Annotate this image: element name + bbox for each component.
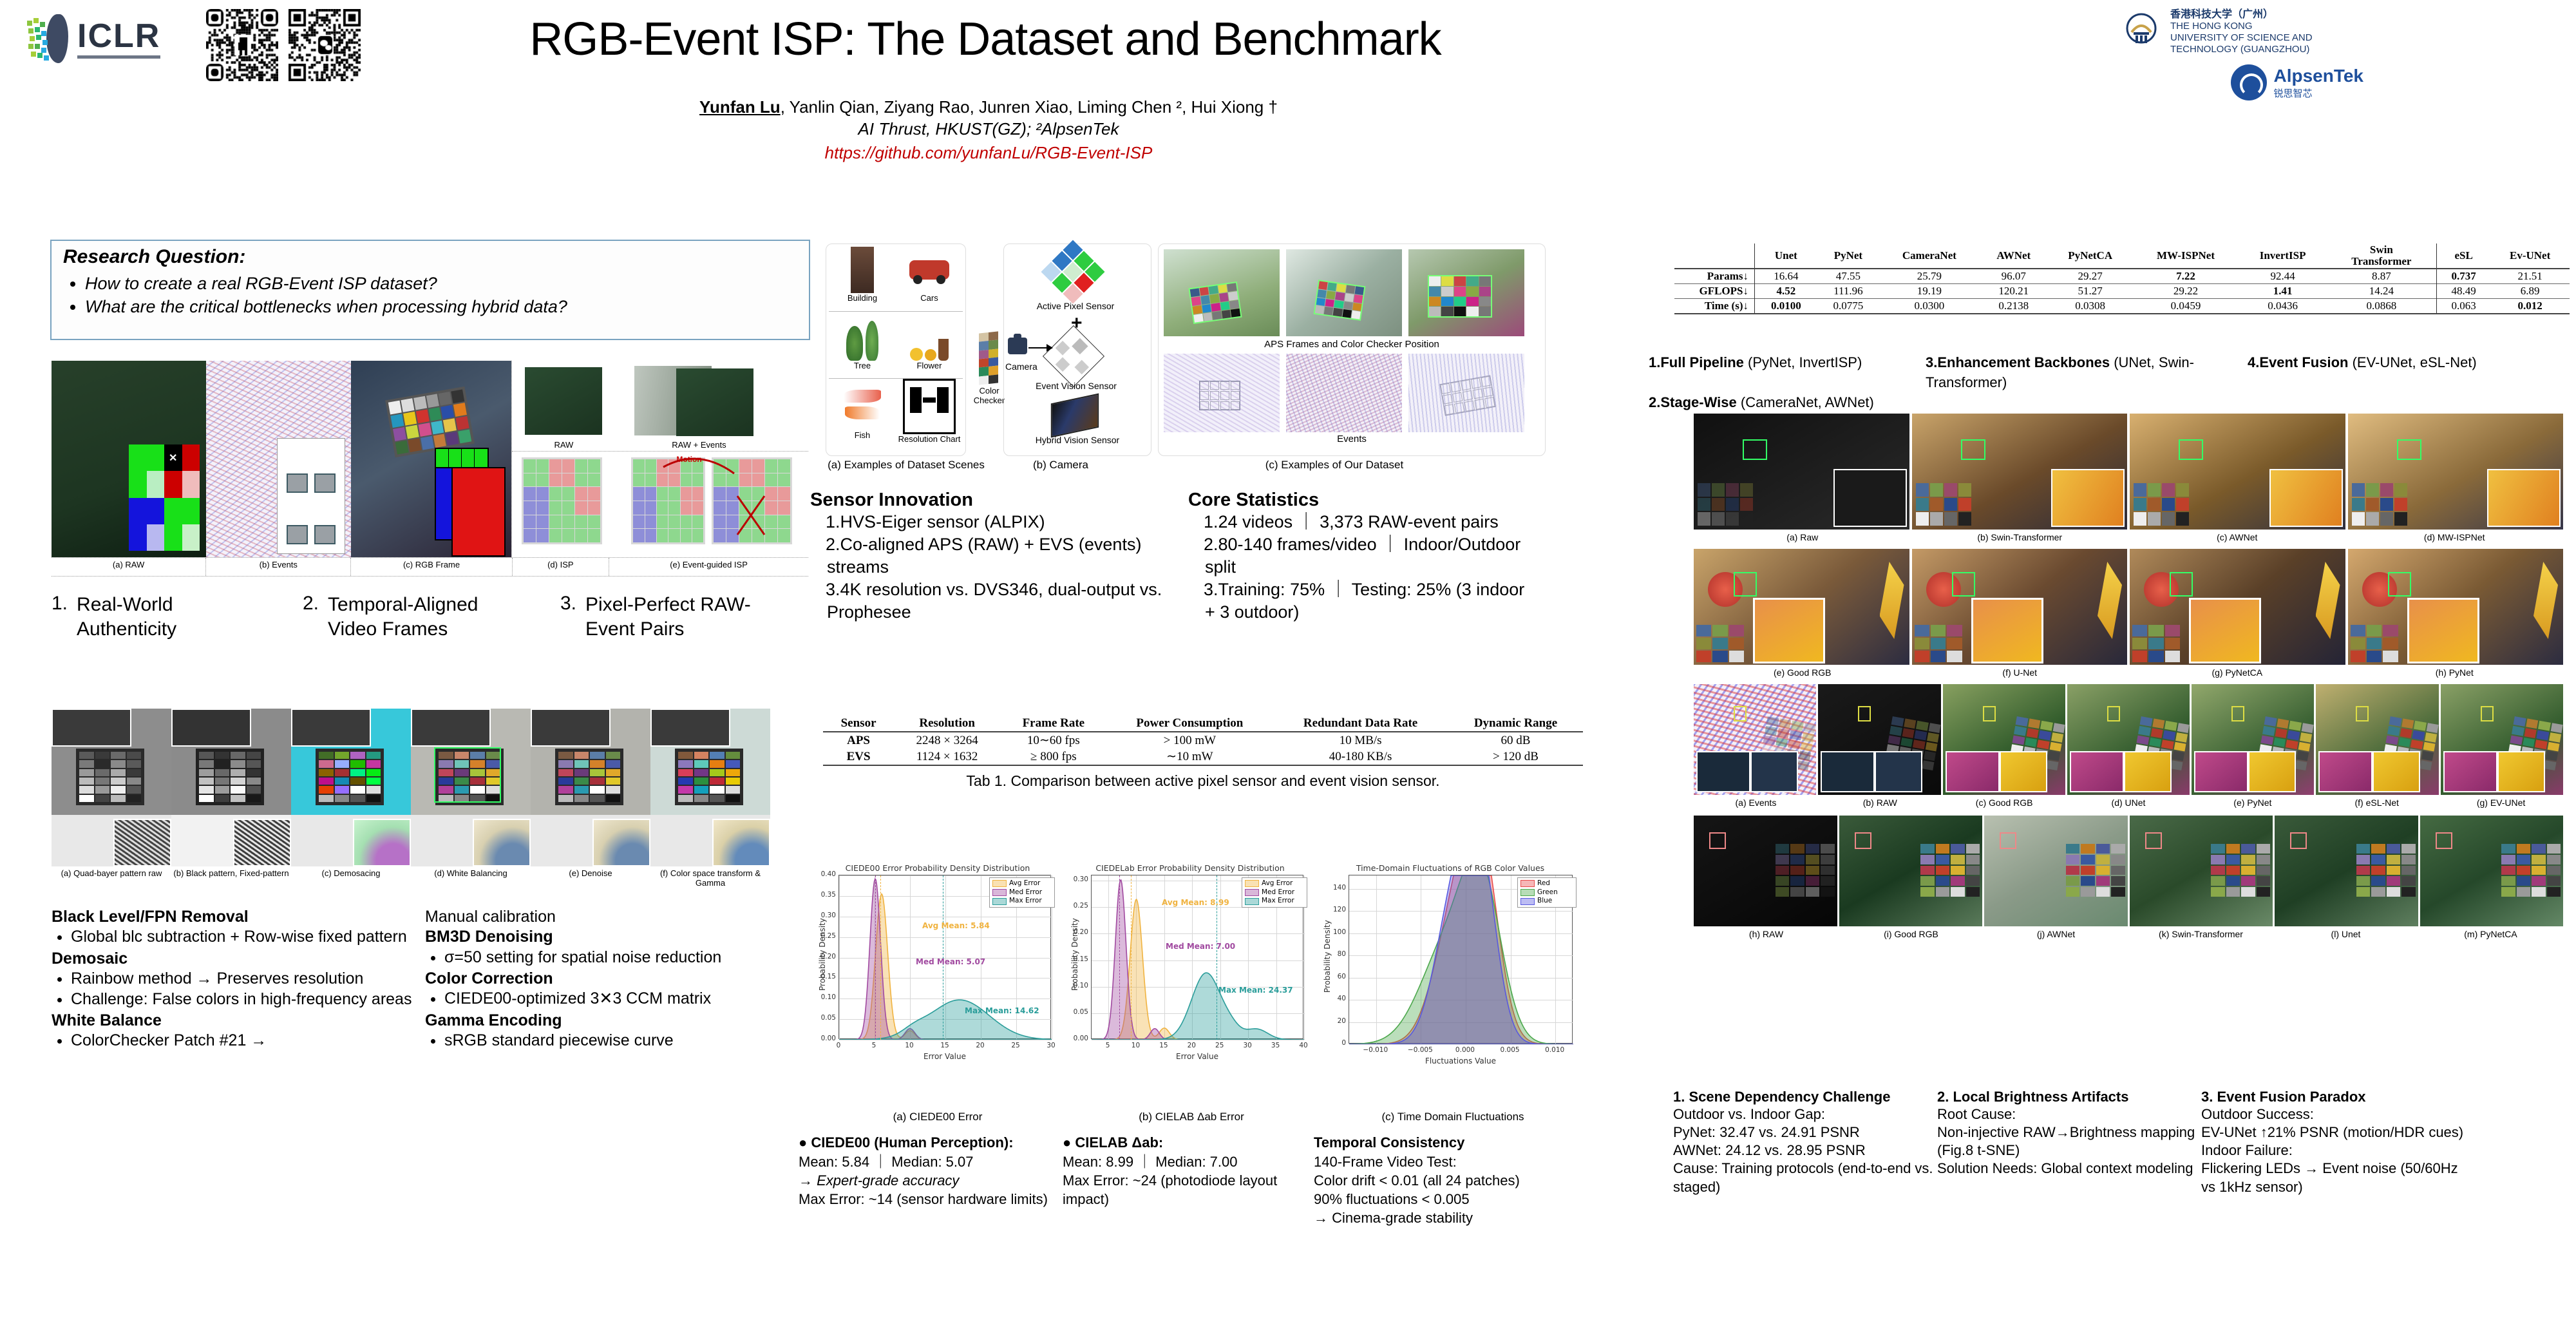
hkust-logo-icon [2119,9,2164,54]
result-tile [1694,816,1837,926]
sensor-comparison-table: Sensor Resolution Frame Rate Power Consu… [823,715,1583,765]
table-row: EVS 1124 × 1632 ≥ 800 fps ∼10 mW 40-180 … [823,749,1583,765]
evs-sensor-icon [1043,325,1104,387]
legend-label: Avg Error [1262,879,1293,888]
y-tick: 20 [1323,1017,1346,1025]
result-tile [1839,816,1983,926]
highlight-3-text: Pixel-Perfect RAW-Event Pairs [585,593,779,641]
iclr-mark-icon [26,14,68,63]
dataset-scenes-panel: Building Cars Tree [826,244,966,456]
benchmark-cell: 0.0868 [2327,298,2437,314]
hybrid-label: Hybrid Vision Sensor [1030,435,1125,445]
alpsentek-name: AlpsenTek [2273,66,2363,86]
camera-icon [1008,338,1030,359]
y-tick: 0.10 [813,993,836,1001]
chart-legend: Avg ErrorMed ErrorMax Error [1242,877,1307,908]
chart-annotation: Med Mean: 5.07 [916,957,985,966]
teaser-isp-comparison: RAW RAW + Events Motion [511,361,808,557]
isp-pipeline-captions: (a) Quad-bayer pattern raw (b) Black pat… [52,866,773,888]
scene-cars: Cars [896,247,963,311]
scene-color-checker-icon [979,331,998,385]
chart-cielab-title: CIEDELab Error Probability Density Distr… [1063,863,1318,873]
results-grid-row3 [1694,684,2563,795]
result-tile [1818,684,1940,795]
isp-caption-d: (d) White Balancing [411,866,531,888]
benchmark-col-pynetca: PyNetCA [2048,244,2133,269]
core-statistics-item-2: 2.80-140 frames/video ｜ Indoor/Outdoor s… [1188,533,1536,578]
benchmark-col-mw-ispnet: MW-ISPNet [2132,244,2239,269]
benchmark-row-label: Time (s)↓ [1674,298,1755,314]
benchmark-cell: 4.52 [1755,283,1817,298]
qr-code-github[interactable] [206,9,278,84]
isp-right-text: Manual calibration BM3D Denoising σ=50 s… [425,907,773,1053]
benchmark-note-4: 4.Event Fusion (EV-UNet, eSL-Net) [2248,353,2524,393]
isp-stage-image [411,709,531,866]
benchmark-cell: 14.24 [2327,283,2437,298]
result-tile [2067,684,2190,795]
isp-stage-image [650,709,770,866]
benchmark-cell: 111.96 [1817,283,1879,298]
isp-rblock-head-2: Color Correction [425,969,773,989]
y-tick: 0 [1323,1039,1346,1047]
teaser-caption-d: (d) ISP [513,558,609,576]
benchmark-cell: 0.063 [2437,298,2491,314]
first-author: Yunfan Lu [699,97,781,117]
benchmark-note-1: 1.Full Pipeline (PyNet, InvertISP) [1649,353,1926,393]
benchmark-cell: 1.41 [2239,283,2327,298]
result-tile [1912,414,2128,530]
highlight-3-number: 3. [560,593,576,641]
y-tick: 40 [1323,995,1346,1002]
events-frame-2 [1286,354,1402,432]
isp-caption-e: (e) Denoise [531,866,650,888]
university-name: 香港科技大学（广州） THE HONG KONG UNIVERSITY OF S… [2170,9,2363,55]
isp-caption-f: (f) Color space transform & Gamma [650,866,770,888]
result-tile [2130,414,2345,530]
metrics-temporal: Temporal Consistency 140-Frame Video Tes… [1314,1134,1591,1227]
results-grid-row2-captions: (e) Good RGB (f) U-Net (g) PyNetCA (h) P… [1694,667,2563,678]
aps-label: Active Pixel Sensor [1034,301,1117,311]
legend-label: Red [1537,879,1550,888]
benchmark-note-2: 2.Stage-Wise (CameraNet, AWNet) [1649,393,1926,413]
x-tick: 15 [928,1042,961,1049]
teaser-caption-a: (a) RAW [52,558,206,576]
benchmark-cell: 48.49 [2437,283,2491,298]
teaser-highlights: 1. Real-World Authenticity 2. Temporal-A… [52,593,811,641]
isp-stage-image [171,709,291,866]
conclusion-1-head: 1. Scene Dependency Challenge [1673,1089,1956,1105]
teaser-caption-b: (b) Events [206,558,351,576]
x-tick: −0.010 [1359,1046,1392,1054]
teaser-raw-image: ✕ [52,361,206,557]
chart-caption-c: (c) Time Domain Fluctuations [1318,1111,1588,1123]
results-grid-row4 [1694,816,2563,926]
metrics-ciede00-head: ● CIEDE00 (Human Perception): [799,1134,1056,1152]
benchmark-col-unet: Unet [1755,244,1817,269]
mean-line [880,875,881,1040]
chart-caption-a: (a) CIEDE00 Error [810,1111,1065,1123]
benchmark-cell: 25.79 [1879,269,1980,284]
benchmark-cell: 0.0300 [1879,298,1980,314]
benchmark-cell: 0.0436 [2239,298,2327,314]
isp-rblock-item-3-1: sRGB standard piecewise curve [444,1031,773,1051]
chart-caption-b: (b) CIELAB Δab Error [1065,1111,1318,1123]
x-axis-label: Error Value [838,1052,1051,1061]
x-tick: 10 [893,1042,926,1049]
chart-annotation: Max Mean: 24.37 [1218,986,1293,995]
iclr-logo: ICLR [26,13,187,64]
benchmark-cell: 21.51 [2490,269,2570,284]
chart-annotation: Avg Mean: 8.99 [1162,898,1229,907]
legend-label: Max Error [1009,897,1042,906]
benchmark-cell: 0.0308 [2048,298,2133,314]
benchmark-cell: 6.89 [2490,283,2570,298]
x-axis-label: Fluctuations Value [1349,1056,1573,1065]
research-question-heading: Research Question: [63,246,797,268]
y-axis-label: Probability Density [1323,920,1332,993]
core-statistics-item-1: 1.24 videos ｜ 3,373 RAW-event pairs [1188,511,1536,533]
benchmark-cell: 8.87 [2327,269,2437,284]
chart-annotation: Max Mean: 14.62 [965,1006,1039,1015]
result-tile [1694,684,1816,795]
core-statistics-heading: Core Statistics [1188,490,1536,511]
isp-block-item-3-1: ColorChecker Patch #21 → [71,1031,451,1051]
x-tick: 0 [822,1042,855,1049]
th-data-rate: Redundant Data Rate [1273,715,1448,732]
result-tile [2130,816,2273,926]
th-sensor: Sensor [823,715,894,732]
highlight-1-text: Real-World Authenticity [77,593,270,641]
highlight-2-number: 2. [303,593,319,641]
y-tick: 0.05 [813,1014,836,1022]
benchmark-cell: 92.44 [2239,269,2327,284]
scene-color-checker-label: Color Checker [972,387,1006,406]
scene-fish: Fish [829,379,896,450]
page-title: RGB-Event ISP: The Dataset and Benchmark [528,13,1443,66]
isp-block-item-2-2: Challenge: False colors in high-frequenc… [71,989,451,1010]
chart-time-domain-title: Time-Domain Fluctuations of RGB Color Va… [1315,863,1586,873]
qr-code-wechat[interactable] [289,9,361,84]
teaser-figure: ✕ [52,361,808,580]
isp-block-item-2-1: Rainbow method → Preserves resolution [71,969,451,989]
conclusion-2: 2. Local Brightness Artifacts Root Cause… [1937,1089,2208,1178]
y-tick: 0.25 [1065,902,1088,910]
result-tile [2348,549,2564,665]
evs-label: Event Vision Sensor [1032,381,1120,391]
benchmark-col-ev-unet: Ev-UNet [2490,244,2570,269]
result-tile [1943,684,2065,795]
result-tile [1694,414,1909,530]
isp-caption-c: (c) Demosacing [291,866,411,888]
chart-annotation: Avg Mean: 5.84 [922,921,990,930]
benchmark-note-3: 3.Enhancement Backbones (UNet, Swin-Tran… [1926,353,2248,393]
x-tick: 0.005 [1493,1046,1527,1054]
result-tile [1984,816,2128,926]
y-tick: 0.30 [1065,875,1088,883]
results-grid-row1-captions: (a) Raw (b) Swin-Transformer (c) AWNet (… [1694,532,2563,542]
table-row: Params↓16.6447.5525.7996.0729.277.2292.4… [1674,269,2570,284]
isp-pipeline-figure [52,709,773,866]
benchmark-cell: 51.27 [2048,283,2133,298]
results-grid-row1 [1694,414,2563,530]
chart-time-domain: Time-Domain Fluctuations of RGB Color Va… [1315,863,1586,1076]
author-list: Yunfan Lu, Yanlin Qian, Ziyang Rao, Junr… [489,97,1488,118]
legend-label: Med Error [1009,888,1042,897]
benchmark-cell: 16.64 [1755,269,1817,284]
isp-block-head-3: White Balance [52,1011,451,1031]
dataset-caption-a: (a) Examples of Dataset Scenes [826,459,987,472]
conclusion-1: 1. Scene Dependency Challenge Outdoor vs… [1673,1089,1956,1196]
isp-rblock-head-0: Manual calibration [425,907,773,927]
x-axis-label: Error Value [1091,1052,1303,1061]
dataset-examples-panel: APS Frames and Color Checker Position Ev… [1158,244,1546,456]
benchmark-table: UnetPyNetCameraNetAWNetPyNetCAMW-ISPNetI… [1674,244,2570,314]
benchmark-cell: 47.55 [1817,269,1879,284]
isp-rblock-head-3: Gamma Encoding [425,1011,773,1031]
benchmark-cell: 7.22 [2132,269,2239,284]
alpsentek-name-cn: 锐思智芯 [2273,86,2363,100]
table-row: APS 2248 × 3264 10∼60 fps > 100 mW 10 MB… [823,732,1583,749]
table1-caption: Tab 1. Comparison between active pixel s… [817,766,1589,790]
chart-legend: RedGreenBlue [1517,877,1577,908]
x-tick: −0.005 [1403,1046,1437,1054]
conclusion-3: 3. Event Fusion Paradox Outdoor Success:… [2201,1089,2472,1196]
benchmark-cell: 29.27 [2048,269,2133,284]
benchmark-cell: 96.07 [1980,269,2048,284]
legend-label: Green [1537,888,1558,897]
isp-rblock-item-1-1: σ=50 setting for spatial noise reduction [444,948,773,968]
chart-ciede00: CIEDE00 Error Probability Density Distri… [810,863,1065,1069]
th-frame-rate: Frame Rate [1000,715,1106,732]
results-grid-row3-captions: (a) Events (b) RAW (c) Good RGB (d) UNet… [1694,797,2563,808]
alpsentek-mark-icon [2231,64,2267,100]
benchmark-col-esl: eSL [2437,244,2491,269]
benchmark-cell: 29.22 [2132,283,2239,298]
result-tile [2420,816,2564,926]
benchmark-col-awnet: AWNet [1980,244,2048,269]
chart-annotation: Med Mean: 7.00 [1166,942,1235,951]
sensor-innovation-item-3: 3.4K resolution vs. DVS346, dual-output … [810,578,1190,624]
scene-flower: Flower [896,312,963,378]
camera-label: Camera [1005,361,1034,372]
result-tile [2275,816,2418,926]
core-statistics-item-3: 3.Training: 75% ｜ Testing: 25% (3 indoor… [1188,578,1536,624]
events-frame-3 [1408,354,1524,432]
benchmark-cell: 0.0459 [2132,298,2239,314]
benchmark-cell: 120.21 [1980,283,2048,298]
result-tile [2441,684,2563,795]
dataset-caption-b: (b) Camera [987,459,1135,472]
legend-label: Max Error [1262,897,1294,906]
affiliation: AI Thrust, HKUST(GZ); ²AlpsenTek [489,119,1488,139]
metrics-ciede00: ● CIEDE00 (Human Perception): Mean: 5.84… [799,1134,1056,1208]
iclr-wordmark: ICLR [77,19,160,59]
chart-captions: (a) CIEDE00 Error (b) CIELAB Δab Error (… [810,1111,1589,1123]
teaser-events-image [206,361,351,557]
chart-cielab: CIEDELab Error Probability Density Distr… [1063,863,1318,1069]
teaser-inner-label-raw: RAW [525,438,602,450]
y-tick: 0.40 [813,870,836,878]
aps-frames-label: APS Frames and Color Checker Position [1159,336,1545,350]
results-grid-row4-captions: (h) RAW (i) Good RGB (j) AWNet (k) Swin-… [1694,929,2563,939]
teaser-caption-e: (e) Event-guided ISP [609,558,808,576]
chart-ciede00-title: CIEDE00 Error Probability Density Distri… [810,863,1065,873]
project-url[interactable]: https://github.com/yunfanLu/RGB-Event-IS… [489,143,1488,163]
teaser-caption-c: (c) RGB Frame [351,558,512,576]
highlight-1-number: 1. [52,593,68,641]
y-axis-label: Probability Density [1070,918,1079,991]
poster-header: ICLR RGB-Event ISP: The Dataset and Benc… [0,0,2576,213]
isp-block-head-2: Demosaic [52,949,451,969]
metrics-temporal-head: Temporal Consistency [1314,1134,1591,1152]
mean-line [1131,875,1132,1040]
mean-line [875,875,876,1040]
scene-tree: Tree [829,312,896,378]
isp-left-text: Black Level/FPN Removal Global blc subtr… [52,907,451,1053]
aps-sensor-icon [1041,240,1105,304]
result-tile [2130,549,2345,665]
events-label: Events [1159,432,1545,444]
isp-caption-a: (a) Quad-bayer pattern raw [52,866,171,888]
dataset-caption-c: (c) Examples of Our Dataset [1135,459,1534,472]
conclusion-2-head: 2. Local Brightness Artifacts [1937,1089,2208,1105]
sensor-innovation-item-2: 2.Co-aligned APS (RAW) + EVS (events) st… [810,533,1190,578]
sensor-innovation-heading: Sensor Innovation [810,490,1190,511]
y-tick: 140 [1323,884,1346,892]
hybrid-sensor-icon [1051,394,1099,438]
isp-block-item-1-1: Global blc subtraction + Row-wise fixed … [71,927,451,948]
benchmark-col-invertisp: InvertISP [2239,244,2327,269]
benchmark-cell: 19.19 [1879,283,1980,298]
aps-frame-1 [1164,249,1280,336]
metrics-cielab: ● CIELAB Δab: Mean: 8.99 ｜ Median: 7.00 … [1063,1134,1307,1208]
teaser-motion-label: Motion [676,455,701,464]
x-tick: 25 [999,1042,1032,1049]
university-name-en-2: UNIVERSITY OF SCIENCE AND [2170,32,2363,44]
dataset-overview-figure: Building Cars Tree [826,244,1586,456]
result-tile [1694,549,1909,665]
other-authors: , Yanlin Qian, Ziyang Rao, Junren Xiao, … [781,97,1278,117]
benchmark-col-pynet: PyNet [1817,244,1879,269]
benchmark-col-label [1674,244,1755,269]
sensor-comparison-table-wrap: Sensor Resolution Frame Rate Power Consu… [817,715,1589,790]
th-resolution: Resolution [894,715,1000,732]
metrics-cielab-head: ● CIELAB Δab: [1063,1134,1307,1152]
x-tick: 20 [963,1042,997,1049]
y-tick: 0.05 [1065,1008,1088,1016]
isp-rblock-item-2-1: CIEDE00-optimized 3✕3 CCM matrix [444,989,773,1009]
events-frame-1 [1164,354,1280,432]
benchmark-table-wrap: UnetPyNetCameraNetAWNetPyNetCAMW-ISPNetI… [1674,244,2570,314]
legend-label: Blue [1537,897,1552,906]
y-tick: 120 [1323,906,1346,913]
result-tile [2348,414,2564,530]
isp-block-head-1: Black Level/FPN Removal [52,907,451,927]
result-tile [1912,549,2128,665]
table-row: GFLOPS↓4.52111.9619.19120.2151.2729.221.… [1674,283,2570,298]
core-statistics-block: Core Statistics 1.24 videos ｜ 3,373 RAW-… [1188,490,1536,624]
benchmark-cell: 0.2138 [1980,298,2048,314]
th-dynamic-range: Dynamic Range [1448,715,1583,732]
benchmark-row-label: Params↓ [1674,269,1755,284]
y-tick: 0.35 [813,891,836,899]
research-question-item-2: What are the critical bottlenecks when p… [85,295,797,318]
camera-panel: Active Pixel Sensor + Event Vision Senso… [1003,244,1151,456]
highlight-2: 2. Temporal-Aligned Video Frames [303,593,560,641]
benchmark-row-label: GFLOPS↓ [1674,283,1755,298]
scene-building: Building [829,247,896,311]
research-question-item-1: How to create a real RGB-Event ISP datas… [85,272,797,295]
x-tick: 0.000 [1448,1046,1482,1054]
aps-frame-2 [1286,249,1402,336]
result-tile [2316,684,2438,795]
benchmark-cell: 0.737 [2437,269,2491,284]
results-grid-row2 [1694,549,2563,665]
sensor-innovation-item-1: 1.HVS-Eiger sensor (ALPIX) [810,511,1190,533]
university-name-en-3: TECHNOLOGY (GUANGZHOU) [2170,44,2363,55]
benchmark-cell: 0.0100 [1755,298,1817,314]
result-tile [2192,684,2314,795]
isp-stage-image [291,709,411,866]
y-tick: 0.00 [1065,1035,1088,1042]
university-name-en-1: THE HONG KONG [2170,21,2363,32]
teaser-inner-label-raw-events: RAW + Events [641,438,757,450]
sensor-innovation-block: Sensor Innovation 1.HVS-Eiger sensor (AL… [810,490,1190,624]
alpsentek-logo: AlpsenTek 锐思智芯 [2231,64,2363,100]
benchmark-col-cameranet: CameraNet [1879,244,1980,269]
chart-legend: Avg ErrorMed ErrorMax Error [989,877,1055,908]
isp-stage-image [52,709,171,866]
th-power: Power Consumption [1107,715,1273,732]
scene-resolution-chart: Resolution Chart [896,379,963,450]
y-axis-label: Probability Density [818,918,827,991]
research-question-panel: Research Question: How to create a real … [50,240,810,340]
teaser-rgb-image [351,361,512,557]
conclusion-3-head: 3. Event Fusion Paradox [2201,1089,2472,1105]
mean-line [1119,875,1120,1040]
benchmark-notes: 1.Full Pipeline (PyNet, InvertISP) 3.Enh… [1649,353,2576,412]
university-name-cn: 香港科技大学（广州） [2170,9,2363,21]
table-row: Time (s)↓0.01000.07750.03000.21380.03080… [1674,298,2570,314]
x-tick: 0.010 [1538,1046,1571,1054]
x-tick: 5 [857,1042,891,1049]
isp-stage-image [531,709,650,866]
legend-label: Med Error [1262,888,1294,897]
isp-caption-b: (b) Black pattern, Fixed-pattern [171,866,291,888]
aps-frame-3 [1408,249,1524,336]
legend-label: Avg Error [1009,879,1040,888]
benchmark-cell: 0.012 [2490,298,2570,314]
highlight-2-text: Temporal-Aligned Video Frames [328,593,515,641]
isp-rblock-head-1: BM3D Denoising [425,927,773,947]
benchmark-cell: 0.0775 [1817,298,1879,314]
highlight-1: 1. Real-World Authenticity [52,593,303,641]
highlight-3: 3. Pixel-Perfect RAW-Event Pairs [560,593,811,641]
dataset-figure-captions: (a) Examples of Dataset Scenes (b) Camer… [826,459,1586,472]
benchmark-col-swin-transformer: SwinTransformer [2327,244,2437,269]
